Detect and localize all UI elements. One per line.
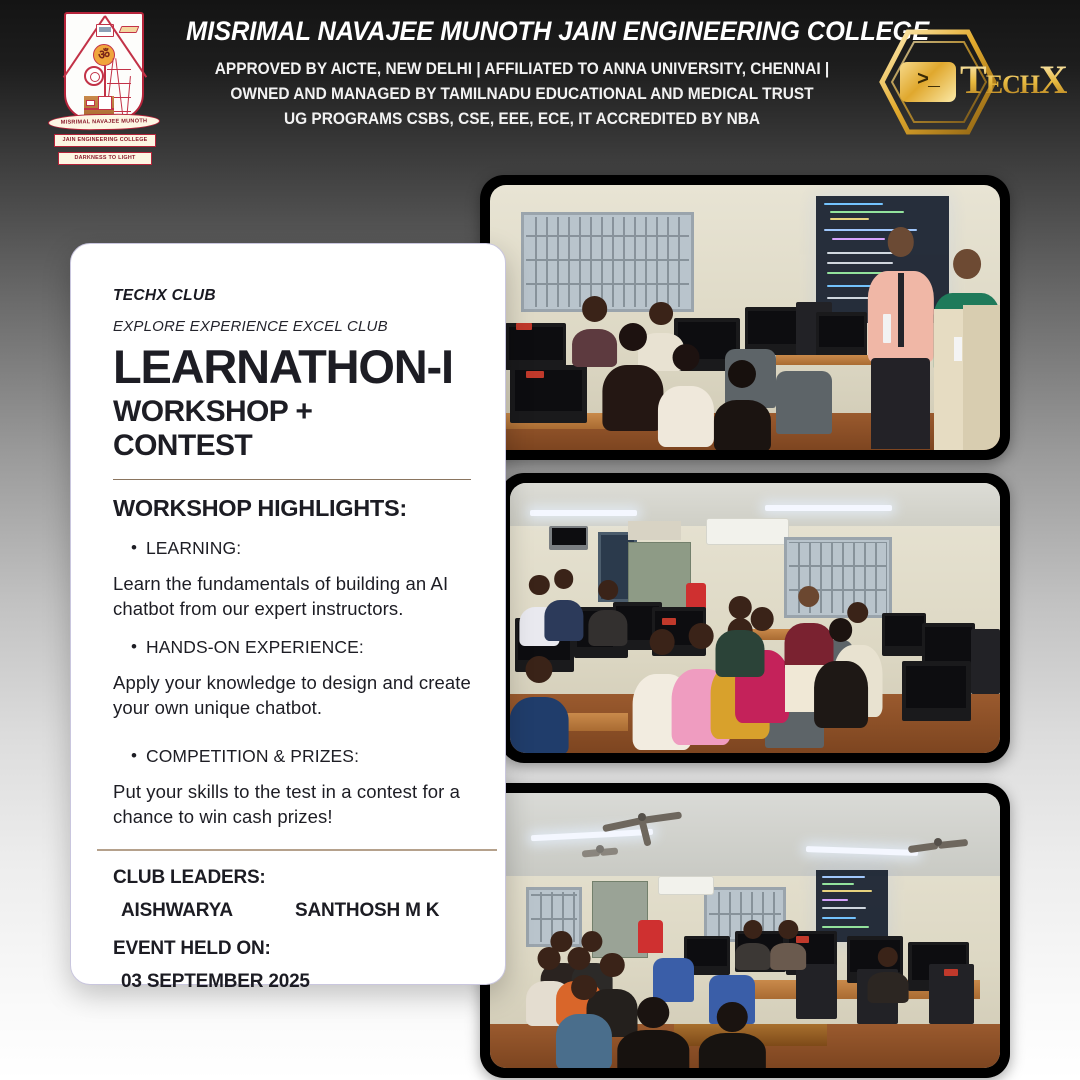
club-tagline: EXPLORE EXPERIENCE EXCEL CLUB — [113, 318, 487, 335]
techx-letters-ech: ECH — [986, 70, 1039, 99]
college-crest-logo: ॐ MISRIMAL NAVAJEE MUNOTH JAIN ENGINEERI… — [50, 8, 158, 168]
crest-chip-icon — [119, 26, 140, 33]
event-info-card: TECHX CLUB EXPLORE EXPERIENCE EXCEL CLUB… — [70, 243, 506, 985]
crest-ribbon-name: MISRIMAL NAVAJEE MUNOTH — [48, 113, 160, 131]
event-photo-1 — [480, 175, 1010, 460]
techx-club-logo: >_ TECHX — [868, 26, 1058, 138]
event-date: 03 SEPTEMBER 2025 — [113, 971, 487, 993]
crest-ribbon-motto: DARKNESS TO LIGHT — [58, 152, 152, 165]
highlights-heading: WORKSHOP HIGHLIGHTS: — [113, 495, 487, 522]
highlight-description: Learn the fundamentals of building an AI… — [113, 571, 487, 621]
event-photo-3 — [480, 783, 1010, 1078]
crest-shield-icon: ॐ — [64, 12, 144, 120]
divider-bottom — [97, 849, 497, 850]
techx-wordmark: TECHX — [960, 56, 1067, 103]
club-leaders-row: AISHWARYA SANTHOSH M K — [113, 900, 487, 922]
techx-letter-x: X — [1039, 57, 1067, 102]
bullet-dot-icon: • — [131, 746, 137, 766]
club-leader-1: AISHWARYA — [121, 900, 295, 922]
club-name: TECHX CLUB — [113, 287, 487, 305]
bullet-dot-icon: • — [131, 538, 137, 558]
accreditation-lines: APPROVED BY AICTE, NEW DELHI | AFFILIATE… — [200, 56, 844, 131]
event-subtitle-line-1: WORKSHOP + — [113, 395, 487, 429]
crest-computer-icon — [96, 24, 114, 37]
highlight-label: HANDS-ON EXPERIENCE: — [146, 637, 364, 657]
highlight-item: • LEARNING: — [113, 538, 487, 558]
header-text-block: MISRIMAL NAVAJEE MUNOTH JAIN ENGINEERING… — [172, 16, 872, 131]
accreditation-line-1: APPROVED BY AICTE, NEW DELHI | AFFILIATE… — [200, 56, 844, 81]
event-held-heading: EVENT HELD ON: — [113, 938, 487, 960]
divider-top — [113, 479, 471, 480]
highlight-label: COMPETITION & PRIZES: — [146, 746, 359, 766]
accreditation-line-2: OWNED AND MANAGED BY TAMILNADU EDUCATION… — [200, 81, 844, 106]
highlight-item: • COMPETITION & PRIZES: — [113, 746, 487, 766]
page-header: ॐ MISRIMAL NAVAJEE MUNOTH JAIN ENGINEERI… — [0, 0, 1080, 170]
event-subtitle-line-2: CONTEST — [113, 429, 487, 463]
club-leaders-heading: CLUB LEADERS: — [113, 867, 487, 889]
event-title: LEARNATHON-I — [113, 341, 487, 393]
highlight-description: Put your skills to the test in a contest… — [113, 779, 487, 829]
highlight-item: • HANDS-ON EXPERIENCE: — [113, 637, 487, 657]
crest-gear-icon — [84, 66, 104, 86]
club-leader-2: SANTHOSH M K — [295, 900, 439, 922]
techx-letter-t: T — [960, 57, 986, 102]
highlight-label: LEARNING: — [146, 538, 241, 558]
highlight-description: Apply your knowledge to design and creat… — [113, 670, 487, 720]
accreditation-line-3: UG PROGRAMS CSBS, CSE, EEE, ECE, IT ACCR… — [200, 106, 844, 131]
college-name-title: MISRIMAL NAVAJEE MUNOTH JAIN ENGINEERING… — [186, 16, 858, 47]
bullet-dot-icon: • — [131, 637, 137, 657]
event-photo-2 — [500, 473, 1010, 763]
crest-ribbon-college: JAIN ENGINEERING COLLEGE — [54, 134, 156, 147]
terminal-prompt-icon: >_ — [900, 62, 956, 102]
